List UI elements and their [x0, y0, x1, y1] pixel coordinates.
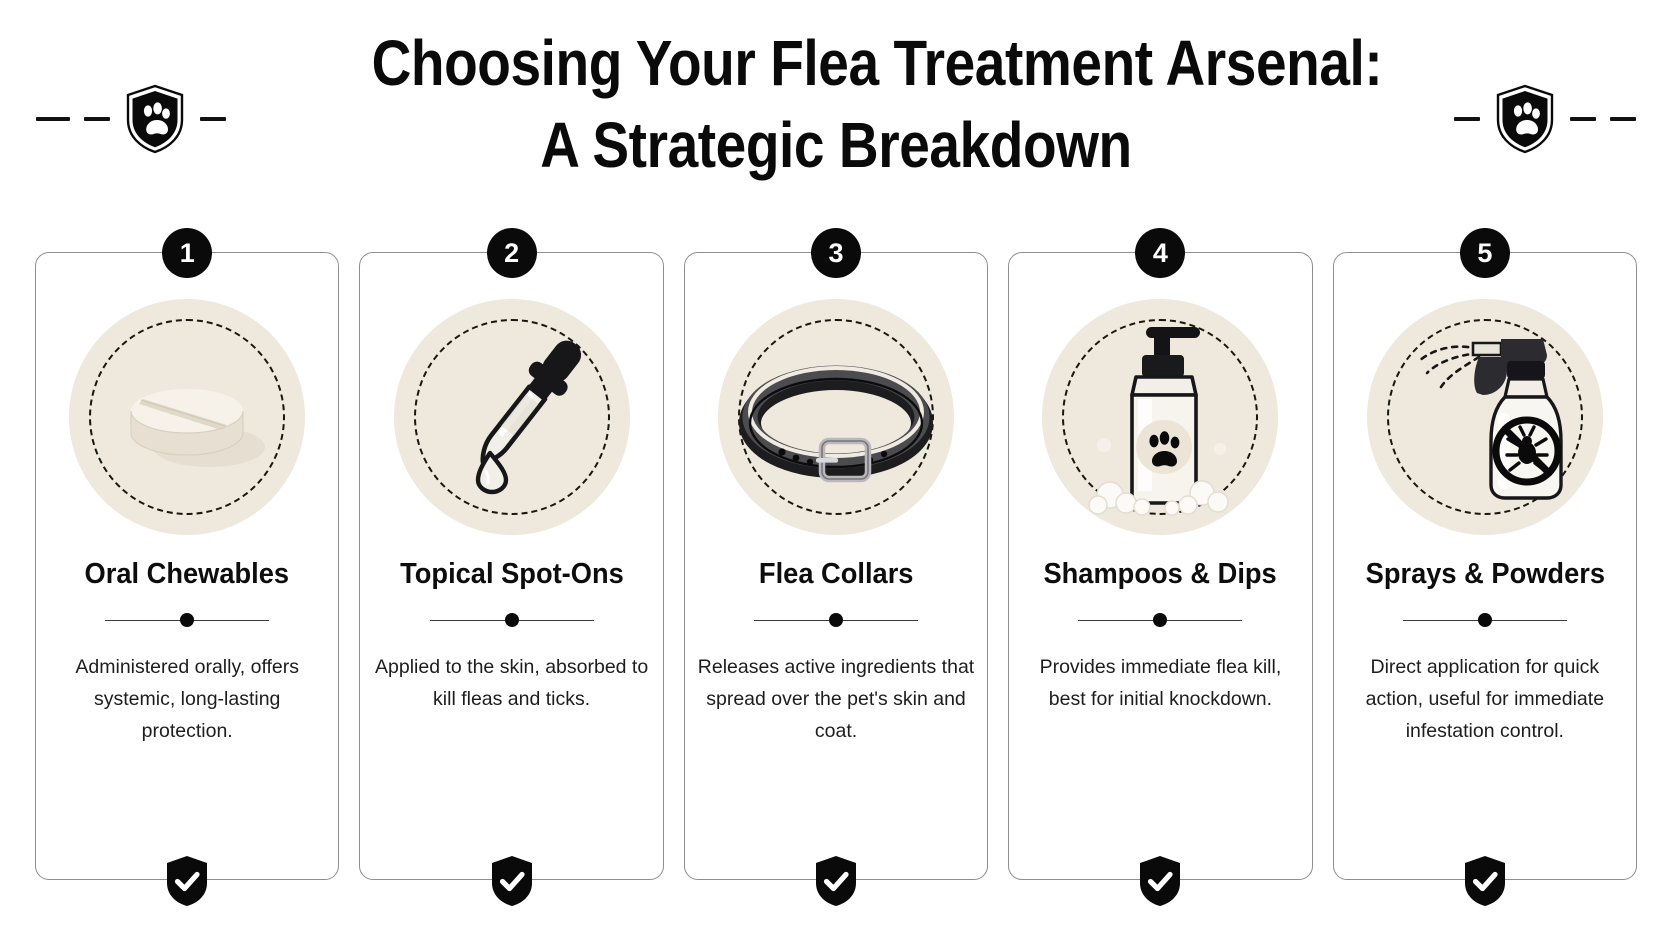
shield-paw-icon: [124, 84, 186, 154]
pill-tablet-icon: [69, 299, 305, 535]
divider-dot: [180, 613, 194, 627]
title-divider: [1078, 613, 1242, 627]
treatment-card-oral-chewables[interactable]: 1 Oral Chewables Administered orally, of…: [35, 252, 339, 880]
illustration-oral-chewables: [69, 299, 305, 535]
title-divider: [754, 613, 918, 627]
dash-icon: [1454, 117, 1480, 121]
card-title: Flea Collars: [759, 557, 914, 591]
step-number-badge: 3: [811, 228, 861, 278]
treatment-card-topical-spot-ons[interactable]: 2 Topical Spot-Ons: [359, 252, 663, 880]
header-decoration-left: [36, 84, 226, 154]
dash-icon: [84, 117, 110, 121]
card-title: Oral Chewables: [85, 557, 290, 591]
infographic-root: Choosing Your Flea Treatment Arsenal: A …: [0, 0, 1672, 941]
spray-bottle-no-flea-icon: [1367, 299, 1603, 535]
shield-check-icon: [814, 855, 858, 907]
card-title: Shampoos & Dips: [1044, 557, 1277, 591]
divider-dot: [1478, 613, 1492, 627]
treatment-card-sprays-powders[interactable]: 5: [1333, 252, 1637, 880]
page-title: Choosing Your Flea Treatment Arsenal: A …: [296, 22, 1376, 186]
title-divider: [1403, 613, 1567, 627]
shield-check-icon: [1138, 855, 1182, 907]
divider-dot: [505, 613, 519, 627]
illustration-flea-collars: [718, 299, 954, 535]
title-divider: [105, 613, 269, 627]
treatment-card-grid: 1 Oral Chewables Administered orally, of…: [35, 252, 1637, 880]
shield-check-icon: [490, 855, 534, 907]
treatment-card-flea-collars[interactable]: 3 Flea Col: [684, 252, 988, 880]
title-divider: [430, 613, 594, 627]
dash-icon: [200, 117, 226, 121]
card-description: Releases active ingredients that spread …: [685, 651, 987, 747]
step-number-badge: 2: [487, 228, 537, 278]
divider-dot: [1153, 613, 1167, 627]
dash-icon: [36, 117, 70, 121]
card-title: Sprays & Powders: [1365, 557, 1604, 591]
header-decoration-right: [1454, 84, 1636, 154]
step-number-badge: 1: [162, 228, 212, 278]
illustration-shampoos-dips: [1042, 299, 1278, 535]
title-line-1: Choosing Your Flea Treatment Arsenal:: [372, 22, 1301, 104]
dash-icon: [1610, 117, 1636, 121]
card-description: Administered orally, offers systemic, lo…: [36, 651, 338, 747]
card-description: Provides immediate flea kill, best for i…: [1009, 651, 1311, 715]
step-number-badge: 4: [1135, 228, 1185, 278]
card-description: Applied to the skin, absorbed to kill fl…: [360, 651, 662, 715]
card-description: Direct application for quick action, use…: [1334, 651, 1636, 747]
step-number-badge: 5: [1460, 228, 1510, 278]
card-title: Topical Spot-Ons: [400, 557, 624, 591]
illustration-topical-spot-ons: [394, 299, 630, 535]
pump-bottle-paw-icon: [1042, 299, 1278, 535]
shield-check-icon: [165, 855, 209, 907]
dropper-pipette-icon: [394, 299, 630, 535]
shield-paw-icon: [1494, 84, 1556, 154]
shield-check-icon: [1463, 855, 1507, 907]
header: Choosing Your Flea Treatment Arsenal: A …: [0, 22, 1672, 212]
treatment-card-shampoos-dips[interactable]: 4: [1008, 252, 1312, 880]
illustration-sprays-powders: [1367, 299, 1603, 535]
divider-dot: [829, 613, 843, 627]
pet-collar-icon: [718, 299, 954, 535]
dash-icon: [1570, 117, 1596, 121]
title-line-2: A Strategic Breakdown: [372, 104, 1301, 186]
